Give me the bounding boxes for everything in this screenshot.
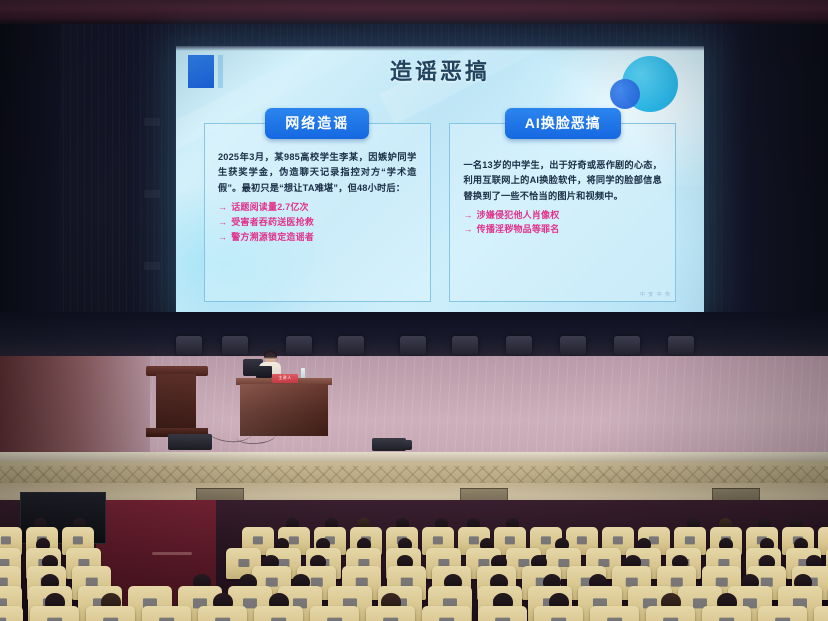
projection-screen: 造谣恶搞 网络造谣 2025年3月，某985高校学生李某，因嫉妒同学生获奖学金，… <box>176 46 704 312</box>
slide-panel-left: 网络造谣 2025年3月，某985高校学生李某，因嫉妒同学生获奖学金，伪造聊天记… <box>204 108 431 302</box>
panel-badge-left: 网络造谣 <box>265 108 369 139</box>
bullet-item: →话题阅读量2.7亿次 <box>218 200 417 215</box>
stage-light <box>338 336 364 355</box>
panel-box-right: 一名13岁的中学生，出于好奇或恶作剧的心态，利用互联网上的AI换脸软件，将同学的… <box>449 123 676 302</box>
stage-light <box>176 336 202 355</box>
panel-body-right: 一名13岁的中学生，出于好奇或恶作剧的心态，利用互联网上的AI换脸软件，将同学的… <box>463 158 662 204</box>
slide-panel-right: AI换脸恶搞 一名13岁的中学生，出于好奇或恶作剧的心态，利用互联网上的AI换脸… <box>449 108 676 302</box>
audience-seat <box>142 606 191 621</box>
wall-panel <box>144 262 160 270</box>
bullet-text: 警方溯源锁定造谣者 <box>231 232 314 242</box>
stage-light <box>614 336 640 355</box>
audience-seat <box>310 606 359 621</box>
audience-seat <box>0 606 23 621</box>
audience-seat <box>758 606 807 621</box>
bullet-item: →传播淫秽物品等罪名 <box>463 222 662 236</box>
stage-floor-left <box>0 356 150 460</box>
arrow-icon: → <box>218 217 227 227</box>
screen-top-edge <box>176 46 704 51</box>
bullet-text: 涉嫌侵犯他人肖像权 <box>477 210 560 220</box>
floor-monitor-speaker <box>404 440 412 450</box>
wall-panel <box>144 118 160 126</box>
lectern <box>156 374 196 432</box>
panel-badge-right: AI换脸恶搞 <box>505 108 621 139</box>
stage-light <box>222 336 248 355</box>
panel-bullets-right: →涉嫌侵犯他人肖像权 →传播淫秽物品等罪名 <box>463 208 662 236</box>
laptop <box>256 366 272 378</box>
stage-light <box>286 336 312 355</box>
bullet-text: 传播淫秽物品等罪名 <box>477 224 560 234</box>
audience-seat <box>86 606 135 621</box>
audience-seat <box>702 606 751 621</box>
floor-monitor-speaker <box>372 438 406 451</box>
stage-light <box>400 336 426 355</box>
stage-light <box>452 336 478 355</box>
arrow-icon: → <box>463 210 472 220</box>
bullet-item: →警方溯源锁定造谣者 <box>218 230 417 245</box>
slide-panels: 网络造谣 2025年3月，某985高校学生李某，因嫉妒同学生获奖学金，伪造聊天记… <box>204 108 676 302</box>
bullet-item: →涉嫌侵犯他人肖像权 <box>463 208 662 222</box>
panel-box-left: 2025年3月，某985高校学生李某，因嫉妒同学生获奖学金，伪造聊天记录指控对方… <box>204 123 431 302</box>
audience-seat <box>422 606 471 621</box>
stage-light <box>560 336 586 355</box>
arrow-icon: → <box>218 232 227 242</box>
ceiling-band <box>0 0 828 22</box>
arrow-icon: → <box>218 202 227 212</box>
slide-watermark: 中 安 中 传 <box>640 291 671 298</box>
arrow-icon: → <box>463 224 472 234</box>
audience-seat <box>198 606 247 621</box>
nameplate-text: 主讲人 <box>272 375 298 381</box>
audience-seat <box>646 606 695 621</box>
audience-seat <box>478 606 527 621</box>
auditorium-scene: 造谣恶搞 网络造谣 2025年3月，某985高校学生李某，因嫉妒同学生获奖学金，… <box>0 0 828 621</box>
slide-title: 造谣恶搞 <box>176 54 704 86</box>
wall-panel <box>144 190 160 198</box>
bullet-item: →受害者吞药送医抢救 <box>218 215 417 230</box>
panel-bullets-left: →话题阅读量2.7亿次 →受害者吞药送医抢救 →警方溯源锁定造谣者 <box>218 200 417 245</box>
apron-pattern <box>0 466 828 483</box>
audience-seat <box>534 606 583 621</box>
bullet-text: 受害者吞药送医抢救 <box>231 217 314 227</box>
audience-seat <box>366 606 415 621</box>
floor-monitor-speaker <box>168 434 212 450</box>
audience-seat <box>814 606 828 621</box>
desk-shading <box>240 384 328 436</box>
panel-body-left: 2025年3月，某985高校学生李某，因嫉妒同学生获奖学金，伪造聊天记录指控对方… <box>218 150 417 196</box>
stage-equipment-row <box>0 336 828 358</box>
stage-light <box>506 336 532 355</box>
left-riser-rail <box>152 552 192 555</box>
audience-seat <box>590 606 639 621</box>
audience-seat <box>254 606 303 621</box>
stage-light <box>668 336 694 355</box>
audience-seat <box>30 606 79 621</box>
bullet-text: 话题阅读量2.7亿次 <box>231 202 309 212</box>
